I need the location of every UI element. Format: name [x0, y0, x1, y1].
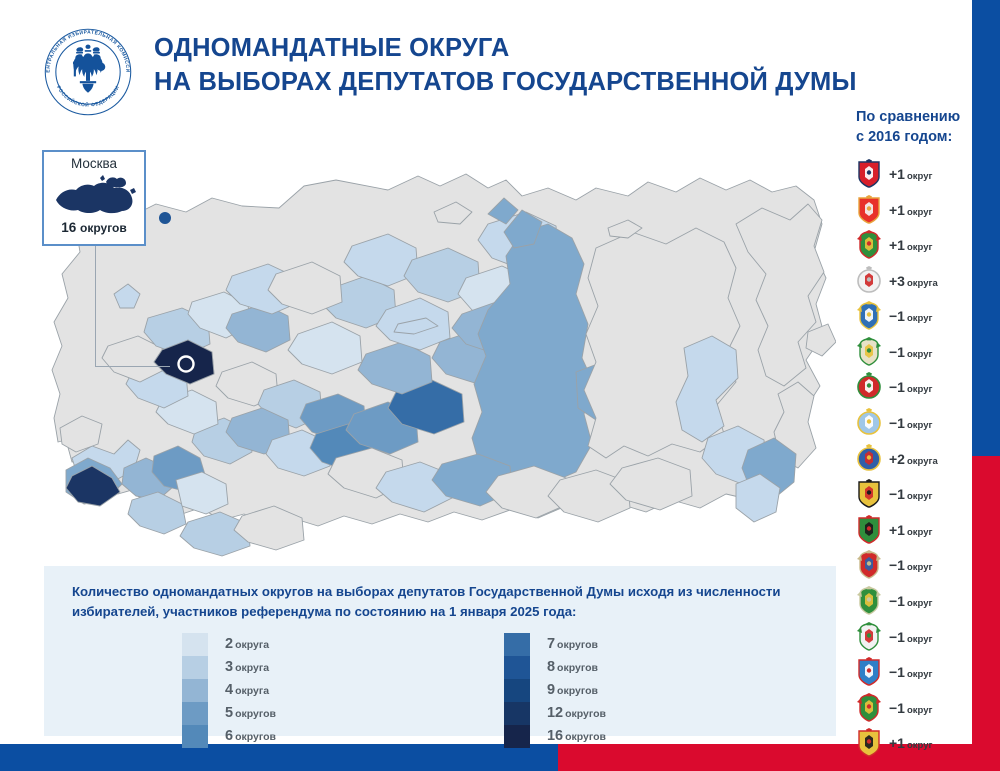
legend-label-value: 8 [547, 659, 555, 675]
comparison-row: −1округ [856, 690, 976, 726]
comparison-delta: −1округ [889, 593, 932, 609]
comparison-row: −1округ [856, 370, 976, 406]
comparison-delta-unit: округ [907, 313, 932, 324]
legend-label-unit: округов [565, 731, 606, 743]
moscow-inset-box[interactable]: Москва 16 округов [42, 150, 146, 246]
comparison-delta-unit: округа [907, 278, 938, 289]
coa-respublika-mordoviya-icon [856, 479, 882, 509]
moscow-inset-count: 16 округов [44, 220, 144, 235]
legend-swatch [182, 725, 208, 748]
cec-russia-emblem-icon: ЦЕНТРАЛЬНАЯ ИЗБИРАТЕЛЬНАЯ КОМИССИЯ РОССИ… [40, 24, 136, 120]
coa-voronezhskaya-oblast-icon [856, 728, 882, 758]
comparison-delta-unit: округ [907, 491, 932, 502]
comparison-delta-value: −1 [889, 379, 905, 395]
legend-label-value: 7 [547, 636, 555, 652]
comparison-delta-unit: округ [907, 634, 932, 645]
comparison-delta: +1округ [889, 202, 932, 218]
infographic-root: ЦЕНТРАЛЬНАЯ ИЗБИРАТЕЛЬНАЯ КОМИССИЯ РОССИ… [0, 0, 1000, 771]
comparison-row: +3округа [856, 263, 976, 299]
legend-label-unit: округа [235, 639, 269, 651]
legend-label-value: 4 [225, 682, 233, 698]
inset-leader-line-horizontal [95, 366, 170, 367]
comparison-row: −1округ [856, 583, 976, 619]
comparison-delta-unit: округ [907, 562, 932, 573]
legend-label-unit: округов [235, 731, 276, 743]
legend-label-value: 3 [225, 659, 233, 675]
legend-label-value: 9 [547, 682, 555, 698]
legend-label-unit: округа [235, 662, 269, 674]
legend-label-unit: округов [557, 662, 598, 674]
comparison-delta-unit: округ [907, 740, 932, 751]
coa-moskovskaya-oblast-icon [856, 195, 882, 225]
comparison-title-line-2: с 2016 годом: [856, 128, 976, 148]
coa-chechenskaya-respublika-icon [856, 266, 882, 296]
comparison-delta-unit: округ [907, 669, 932, 680]
legend-label-value: 16 [547, 728, 563, 744]
legend-label-unit: округов [565, 708, 606, 720]
legend-swatch [504, 656, 530, 679]
saint-petersburg-marker [159, 212, 171, 224]
comparison-row: +1округ [856, 726, 976, 762]
legend-label: 2округа [225, 633, 276, 656]
legend-swatch [182, 702, 208, 725]
legend-label: 8округов [547, 656, 606, 679]
legend-label: 6округов [225, 725, 276, 748]
comparison-delta: +1округ [889, 522, 932, 538]
legend-ramp-left [182, 633, 208, 748]
comparison-title-line-1: По сравнению [856, 108, 976, 128]
legend-swatch [504, 702, 530, 725]
comparison-delta: −1округ [889, 486, 932, 502]
legend-label-value: 5 [225, 705, 233, 721]
legend-label: 3округа [225, 656, 276, 679]
comparison-row: −1округ [856, 654, 976, 690]
legend-swatch [182, 656, 208, 679]
comparison-delta-value: −1 [889, 629, 905, 645]
moscow-inset-count-value: 16 [61, 220, 76, 235]
comparison-delta-unit: округ [907, 705, 932, 716]
comparison-row: +1округ [856, 227, 976, 263]
comparison-delta-unit: округ [907, 242, 932, 253]
legend-label: 4округа [225, 679, 276, 702]
comparison-delta-unit: округ [907, 420, 932, 431]
comparison-delta-value: −1 [889, 308, 905, 324]
comparison-delta: +1округ [889, 166, 932, 182]
comparison-delta-value: +3 [889, 273, 905, 289]
comparison-delta-unit: округ [907, 384, 932, 395]
coa-tyumenskaya-oblast-icon [856, 301, 882, 331]
inset-leader-line-vertical [95, 246, 96, 366]
page-title-line-2: НА ВЫБОРАХ ДЕПУТАТОВ ГОСУДАРСТВЕННОЙ ДУМ… [154, 66, 857, 100]
comparison-delta-value: +1 [889, 166, 905, 182]
legend-column-left: 2округа3округа4округа5округов6округов [182, 633, 276, 748]
legend-label: 7округов [547, 633, 606, 656]
comparison-delta: +1округ [889, 237, 932, 253]
comparison-delta-unit: округ [907, 207, 932, 218]
legend-labels-right: 7округов8округов9округов12округов16округ… [547, 633, 606, 748]
comparison-panel: По сравнению с 2016 годом: +1округ +1окр… [856, 108, 976, 761]
legend-panel: Количество одномандатных округов на выбо… [44, 566, 836, 736]
comparison-delta: −1округ [889, 629, 932, 645]
page-title-line-1: ОДНОМАНДАТНЫЕ ОКРУГА [154, 32, 857, 66]
legend-label-value: 12 [547, 705, 563, 721]
coa-stavropolskiy-kray-icon [856, 693, 882, 723]
comparison-row: +1округ [856, 192, 976, 228]
legend-ramp-right [504, 633, 530, 748]
comparison-rows: +1округ +1округ +1округ +3округа −1округ… [856, 156, 976, 761]
coa-smolenskaya-oblast-icon [856, 622, 882, 652]
comparison-delta-value: −1 [889, 593, 905, 609]
comparison-row: −1округ [856, 334, 976, 370]
coa-volgogradskaya-oblast-icon [856, 372, 882, 402]
comparison-delta-value: +1 [889, 522, 905, 538]
comparison-title: По сравнению с 2016 годом: [856, 108, 976, 147]
comparison-delta: −1округ [889, 664, 932, 680]
accent-bar-right-red [972, 456, 1000, 771]
comparison-row: +1округ [856, 512, 976, 548]
comparison-row: −1округ [856, 619, 976, 655]
accent-bar-right-blue [972, 0, 1000, 456]
legend-column-right: 7округов8округов9округов12округов16округ… [504, 633, 606, 748]
comparison-delta: +3округа [889, 273, 938, 289]
comparison-delta-unit: округа [907, 456, 938, 467]
comparison-row: −1округ [856, 299, 976, 335]
legend-label-unit: округов [557, 685, 598, 697]
legend-columns: 2округа3округа4округа5округов6округов 7о… [72, 633, 808, 748]
legend-label-unit: округов [235, 708, 276, 720]
legend-label: 9округов [547, 679, 606, 702]
accent-bar-bottom-blue [0, 744, 558, 771]
moscow-inset-count-unit: округов [80, 221, 127, 235]
comparison-delta: −1округ [889, 344, 932, 360]
comparison-delta-value: +1 [889, 735, 905, 751]
comparison-delta-value: −1 [889, 664, 905, 680]
coa-altayskiy-kray-icon [856, 408, 882, 438]
coa-orenburgskaya-oblast-icon [856, 586, 882, 616]
comparison-delta: −1округ [889, 379, 932, 395]
legend-swatch [504, 725, 530, 748]
legend-label-value: 2 [225, 636, 233, 652]
legend-swatch [504, 633, 530, 656]
comparison-delta-unit: округ [907, 349, 932, 360]
comparison-delta-unit: округ [907, 527, 932, 538]
comparison-row: −1округ [856, 476, 976, 512]
legend-swatch [504, 679, 530, 702]
comparison-delta-value: −1 [889, 557, 905, 573]
coa-leningradskaya-oblast-icon [856, 444, 882, 474]
coa-respublika-bashkortostan-icon [856, 337, 882, 367]
comparison-delta-value: −1 [889, 415, 905, 431]
header: ЦЕНТРАЛЬНАЯ ИЗБИРАТЕЛЬНАЯ КОМИССИЯ РОССИ… [40, 24, 857, 120]
legend-label-unit: округа [235, 685, 269, 697]
moscow-inset-title: Москва [44, 157, 144, 171]
legend-swatch [182, 633, 208, 656]
comparison-delta: −1округ [889, 308, 932, 324]
coa-tambovskaya-oblast-icon [856, 657, 882, 687]
legend-label-value: 6 [225, 728, 233, 744]
coa-moskva-icon [856, 159, 882, 189]
comparison-delta-unit: округ [907, 598, 932, 609]
comparison-delta-value: −1 [889, 344, 905, 360]
russia-choropleth-map[interactable] [36, 128, 836, 558]
coa-irkutskaya-oblast-icon [856, 550, 882, 580]
comparison-delta-value: +1 [889, 237, 905, 253]
coa-zabaykalskiy-kray-icon [856, 515, 882, 545]
comparison-row: +2округа [856, 441, 976, 477]
moscow-inset-shape-icon [44, 174, 144, 218]
legend-label: 5округов [225, 702, 276, 725]
page-title: ОДНОМАНДАТНЫЕ ОКРУГА НА ВЫБОРАХ ДЕПУТАТО… [154, 24, 857, 99]
legend-label: 12округов [547, 702, 606, 725]
comparison-delta: −1округ [889, 557, 932, 573]
legend-labels-left: 2округа3округа4округа5округов6округов [225, 633, 276, 748]
comparison-delta-value: +2 [889, 451, 905, 467]
comparison-delta-value: +1 [889, 202, 905, 218]
comparison-delta-value: −1 [889, 486, 905, 502]
legend-label: 16округов [547, 725, 606, 748]
legend-label-unit: округов [557, 639, 598, 651]
coa-krasnodarskiy-kray-icon [856, 230, 882, 260]
comparison-delta: −1округ [889, 415, 932, 431]
comparison-delta: +2округа [889, 451, 938, 467]
comparison-delta: +1округ [889, 735, 932, 751]
comparison-delta-unit: округ [907, 171, 932, 182]
comparison-row: +1округ [856, 156, 976, 192]
comparison-delta-value: −1 [889, 700, 905, 716]
legend-title: Количество одномандатных округов на выбо… [72, 582, 787, 623]
comparison-row: −1округ [856, 548, 976, 584]
legend-swatch [182, 679, 208, 702]
comparison-delta: −1округ [889, 700, 932, 716]
comparison-row: −1округ [856, 405, 976, 441]
